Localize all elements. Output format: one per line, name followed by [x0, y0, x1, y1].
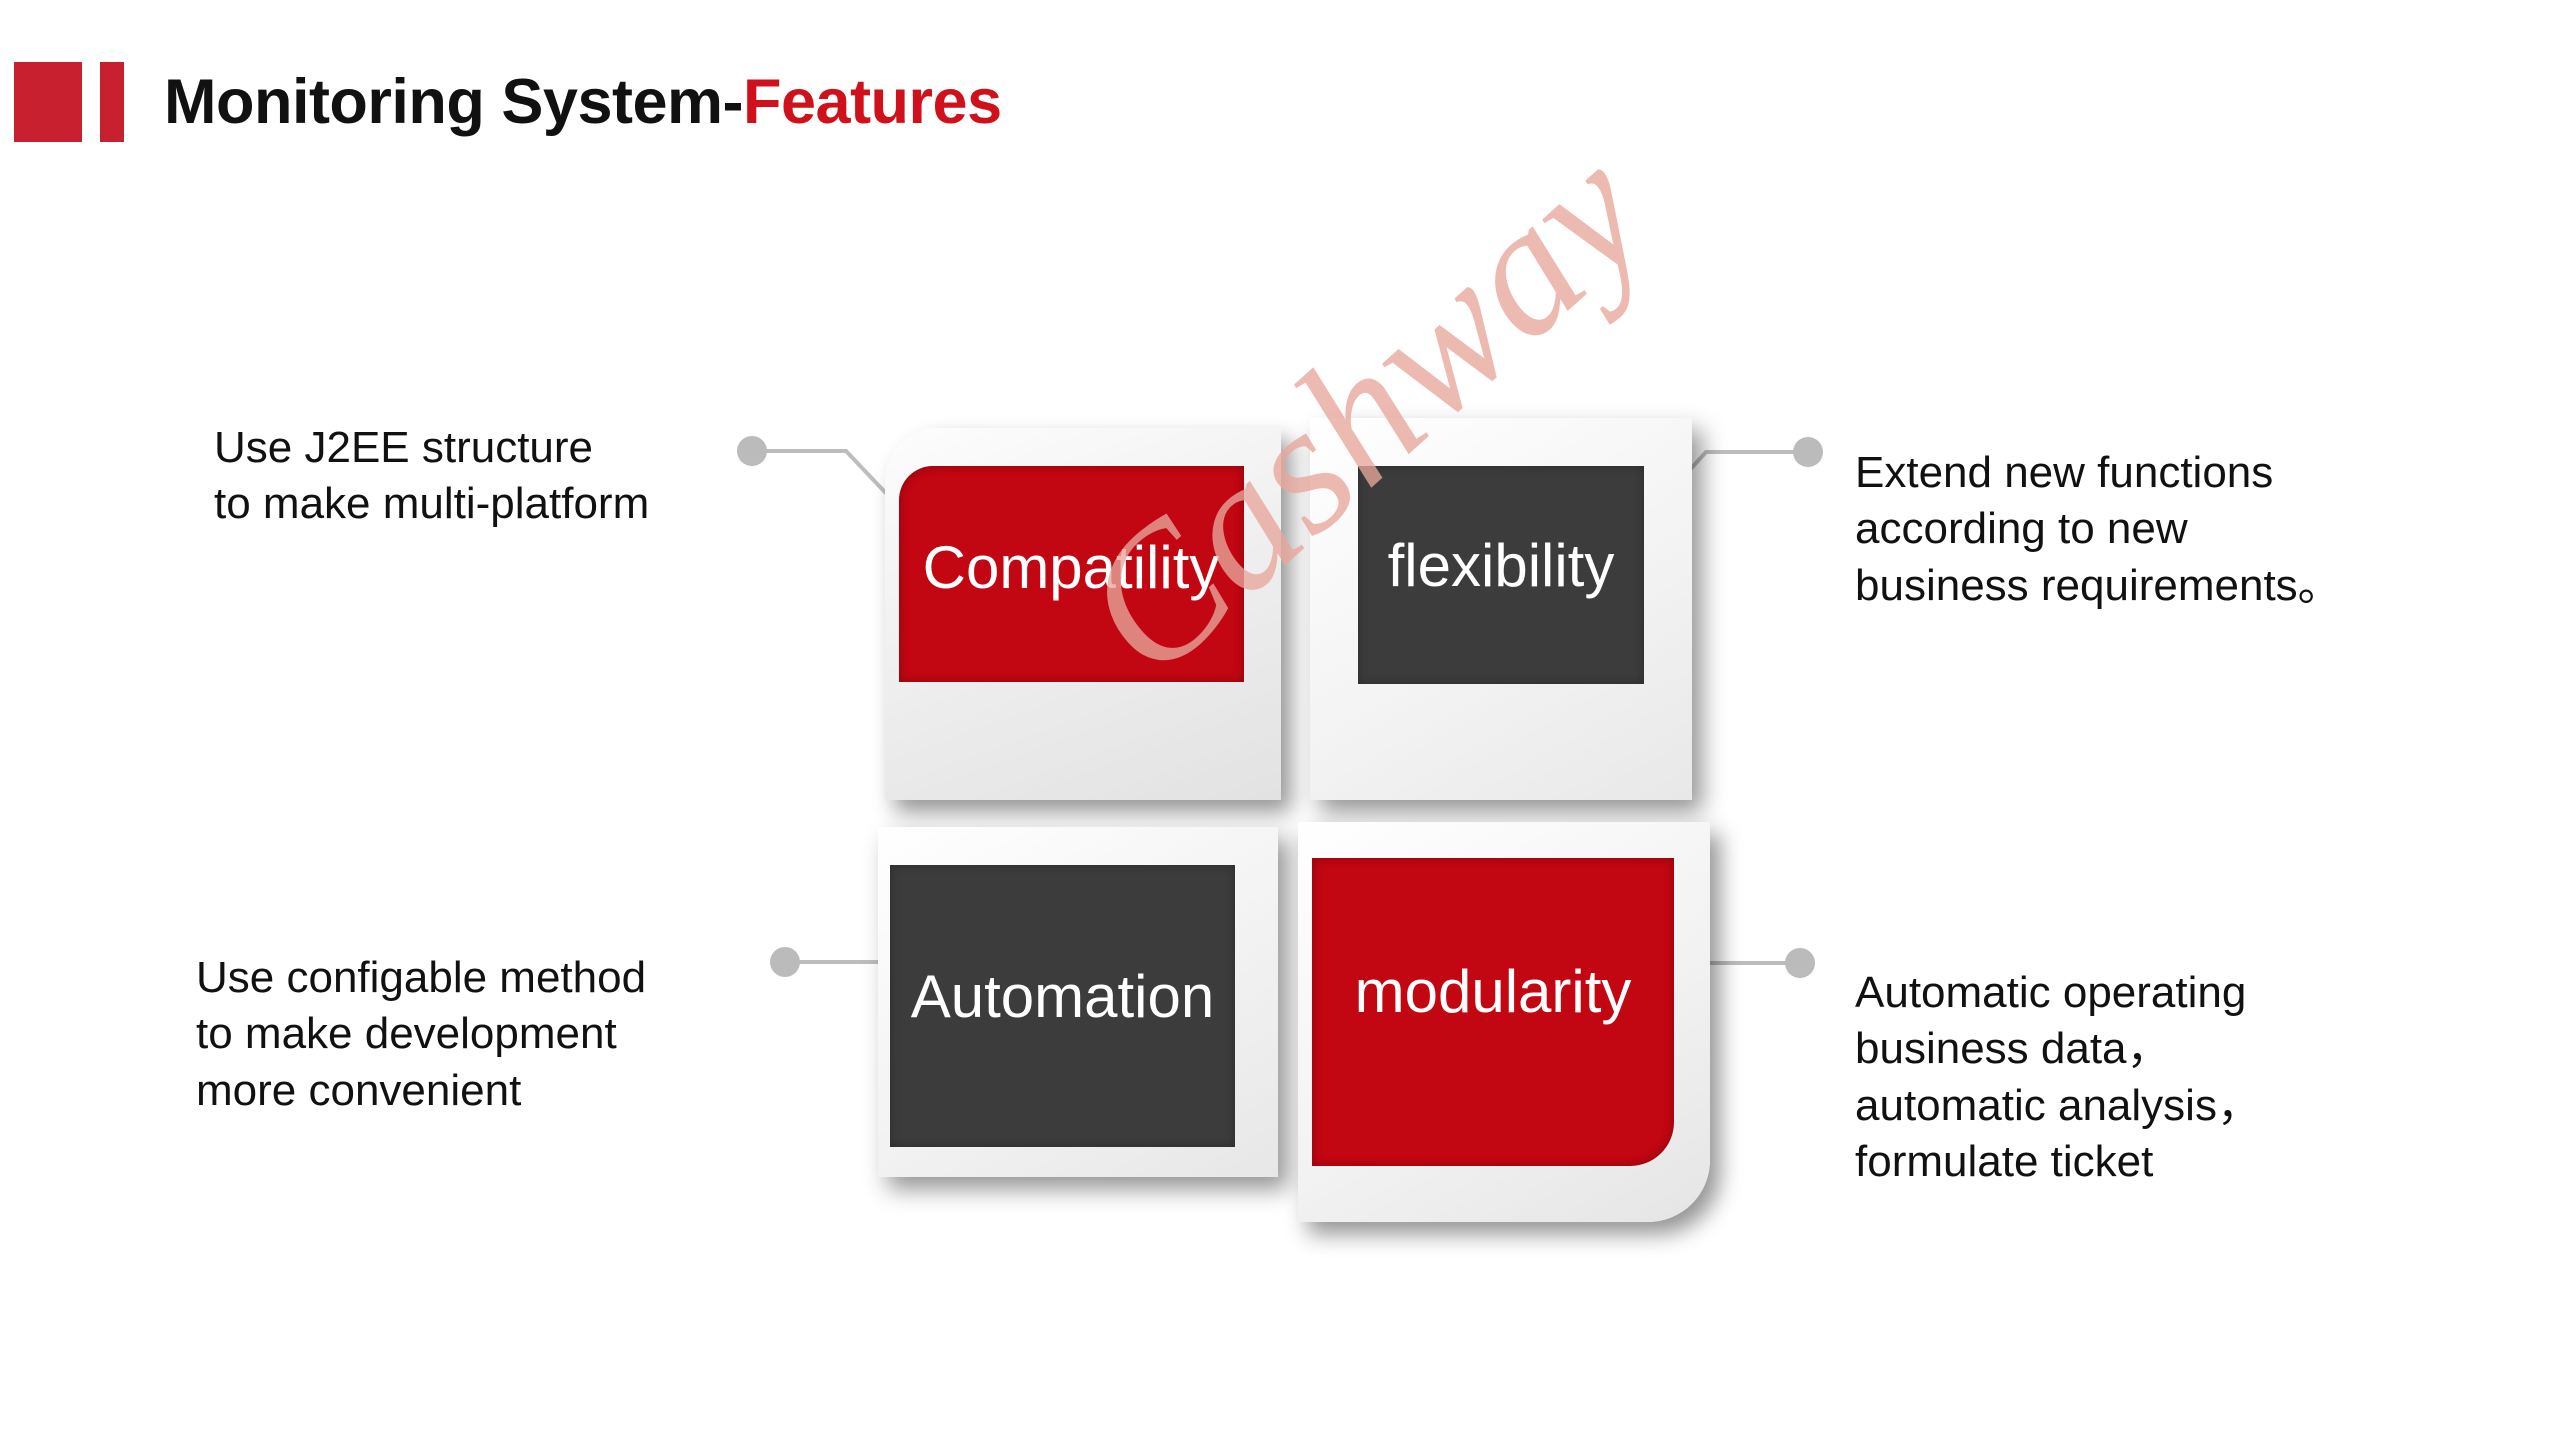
page-title: Monitoring System-Features: [164, 71, 1002, 134]
callout-compatility: Use J2EE structure to make multi-platfor…: [214, 420, 794, 533]
title-accent-block-small: [100, 62, 124, 142]
page-header: Monitoring System-Features: [0, 56, 1002, 148]
feature-card-automation[interactable]: Automation: [878, 827, 1278, 1177]
connector-top-right-dot: [1793, 437, 1823, 467]
callout-flexibility: Extend new functions according to new bu…: [1855, 445, 2435, 614]
title-accent-block-large: [14, 62, 82, 142]
feature-card-automation-label: Automation: [890, 967, 1235, 1027]
callout-automation: Use configable method to make developmen…: [196, 950, 796, 1119]
feature-card-modularity-label: modularity: [1312, 962, 1674, 1022]
callout-modularity: Automatic operating business data， autom…: [1855, 965, 2435, 1190]
page-title-accent: Features: [743, 67, 1002, 137]
feature-card-compatility-label: Compatility: [895, 538, 1247, 598]
feature-card-modularity[interactable]: modularity: [1298, 822, 1710, 1222]
page-title-main: Monitoring System-: [164, 67, 743, 137]
feature-card-compatility[interactable]: Compatility: [885, 428, 1281, 800]
feature-card-flexibility[interactable]: flexibility: [1310, 418, 1692, 800]
connector-bottom-right-dot: [1785, 948, 1815, 978]
feature-card-flexibility-label: flexibility: [1358, 536, 1644, 596]
